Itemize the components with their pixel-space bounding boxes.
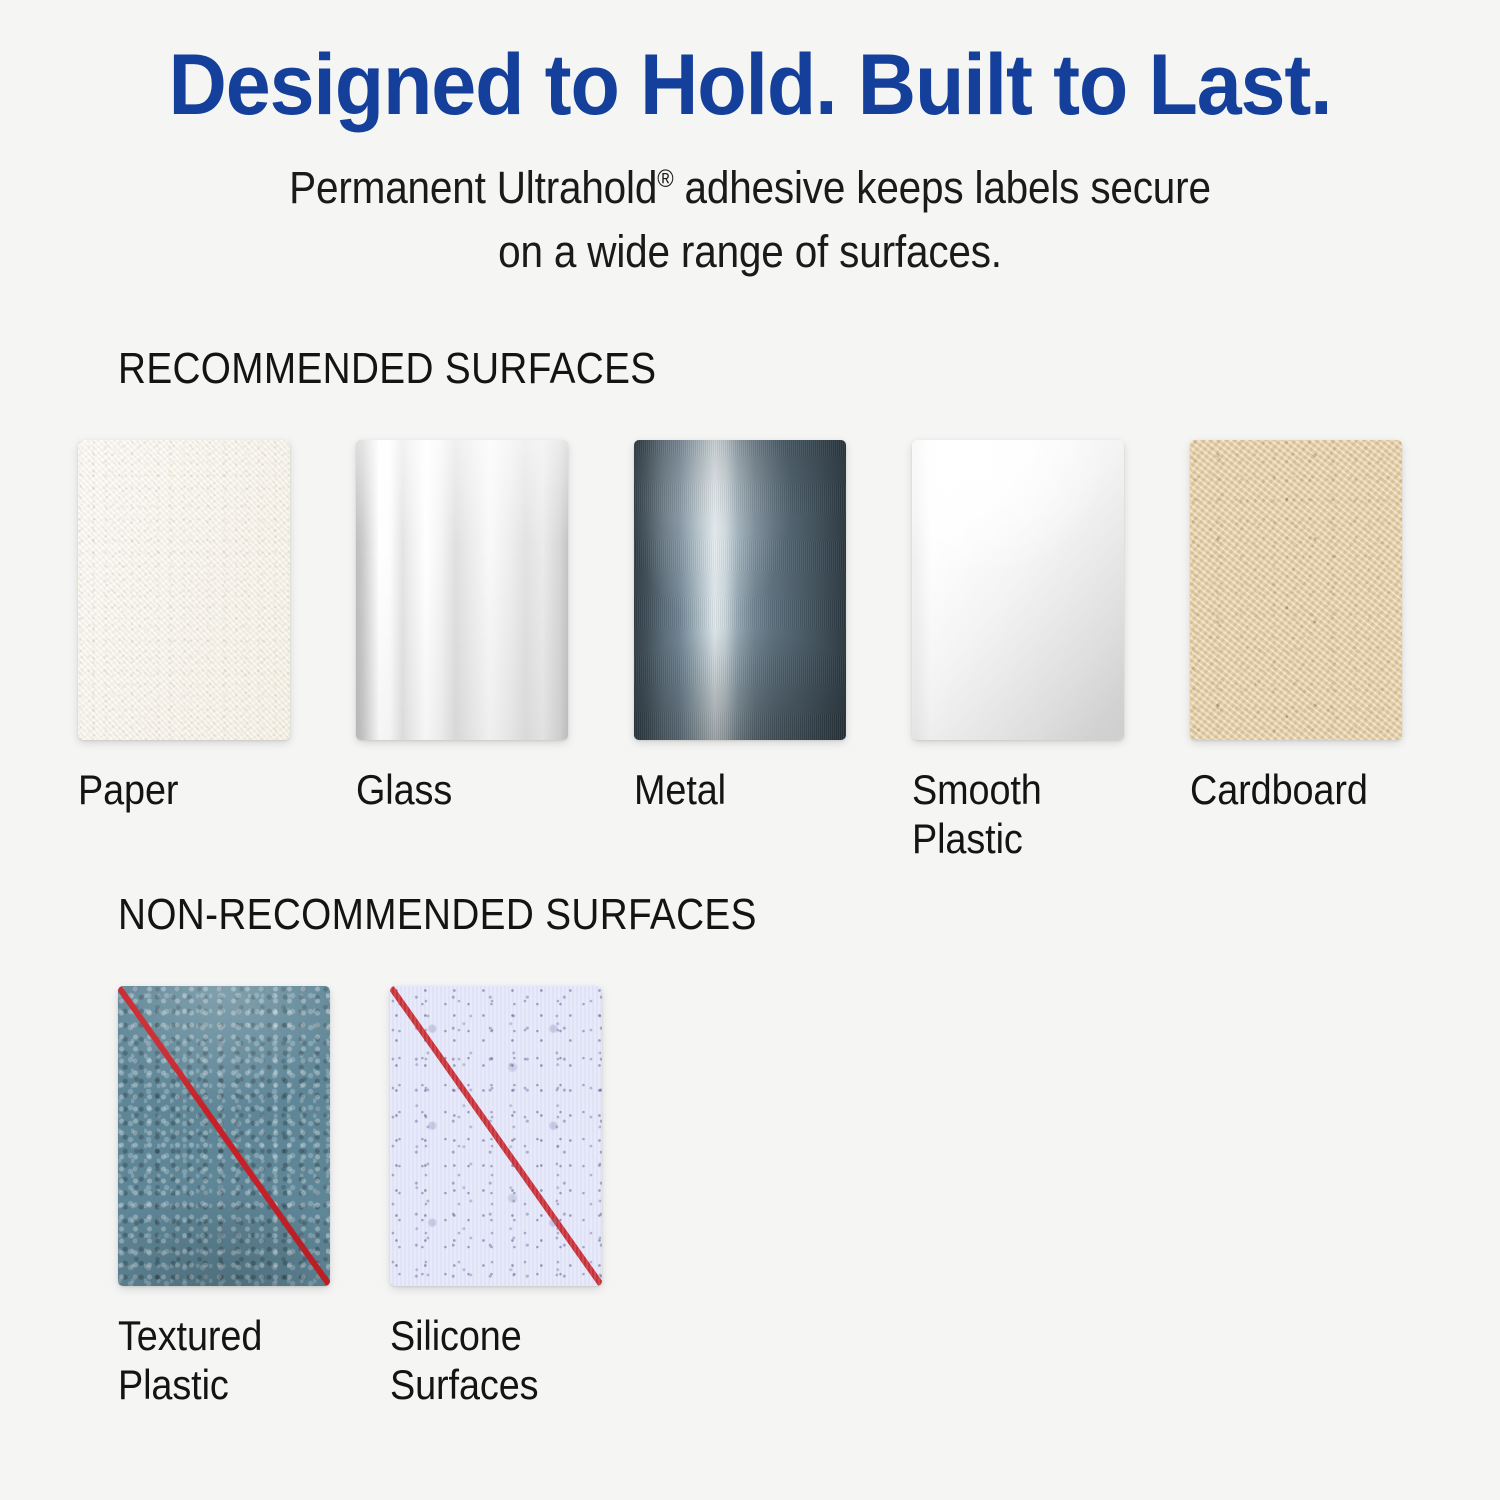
swatch-silicone-surfaces bbox=[390, 986, 602, 1286]
recommended-surfaces-section: RECOMMENDED SURFACES Paper Glass Metal S… bbox=[0, 344, 1500, 863]
recommended-swatch-row: Paper Glass Metal Smooth Plastic Cardboa… bbox=[78, 440, 1500, 863]
swatch-textured-plastic bbox=[118, 986, 330, 1286]
swatch-glass bbox=[356, 440, 568, 740]
swatch-metal bbox=[634, 440, 846, 740]
red-strikethrough-icon bbox=[390, 986, 602, 1286]
header: Designed to Hold. Built to Last. Permane… bbox=[0, 0, 1500, 284]
swatch-cell-silicone-surfaces: Silicone Surfaces bbox=[390, 986, 662, 1409]
subtitle-line-2: on a wide range of surfaces. bbox=[498, 226, 1002, 277]
page-subtitle: Permanent Ultrahold® adhesive keeps labe… bbox=[219, 156, 1281, 284]
page-headline: Designed to Hold. Built to Last. bbox=[45, 42, 1455, 130]
non-recommended-swatch-row: Textured Plastic Silicone Surfaces bbox=[118, 986, 1500, 1409]
swatch-label-silicone-surfaces: Silicone Surfaces bbox=[390, 1312, 575, 1409]
non-recommended-section-title: NON-RECOMMENDED SURFACES bbox=[118, 890, 1334, 940]
swatch-label-textured-plastic: Textured Plastic bbox=[118, 1312, 303, 1409]
registered-trademark-icon: ® bbox=[657, 166, 673, 193]
swatch-cell-cardboard: Cardboard bbox=[1190, 440, 1468, 863]
non-recommended-surfaces-section: NON-RECOMMENDED SURFACES Textured Plasti… bbox=[0, 890, 1500, 1409]
swatch-cell-textured-plastic: Textured Plastic bbox=[118, 986, 390, 1409]
swatch-label-glass: Glass bbox=[356, 766, 541, 815]
red-strikethrough-icon bbox=[118, 986, 330, 1286]
swatch-cell-metal: Metal bbox=[634, 440, 912, 863]
recommended-section-title: RECOMMENDED SURFACES bbox=[118, 344, 1334, 394]
swatch-label-cardboard: Cardboard bbox=[1190, 766, 1375, 815]
swatch-cell-smooth-plastic: Smooth Plastic bbox=[912, 440, 1190, 863]
subtitle-text-before: Permanent Ultrahold bbox=[289, 162, 657, 213]
swatch-label-paper: Paper bbox=[78, 766, 263, 815]
swatch-label-smooth-plastic: Smooth Plastic bbox=[912, 766, 1097, 863]
swatch-smooth-plastic bbox=[912, 440, 1124, 740]
swatch-cell-paper: Paper bbox=[78, 440, 356, 863]
swatch-cell-glass: Glass bbox=[356, 440, 634, 863]
swatch-paper bbox=[78, 440, 290, 740]
surface-compatibility-infographic: { "header": { "headline": "Designed to H… bbox=[0, 0, 1500, 1500]
swatch-cardboard bbox=[1190, 440, 1402, 740]
swatch-label-metal: Metal bbox=[634, 766, 819, 815]
subtitle-text-after: adhesive keeps labels secure bbox=[673, 162, 1210, 213]
